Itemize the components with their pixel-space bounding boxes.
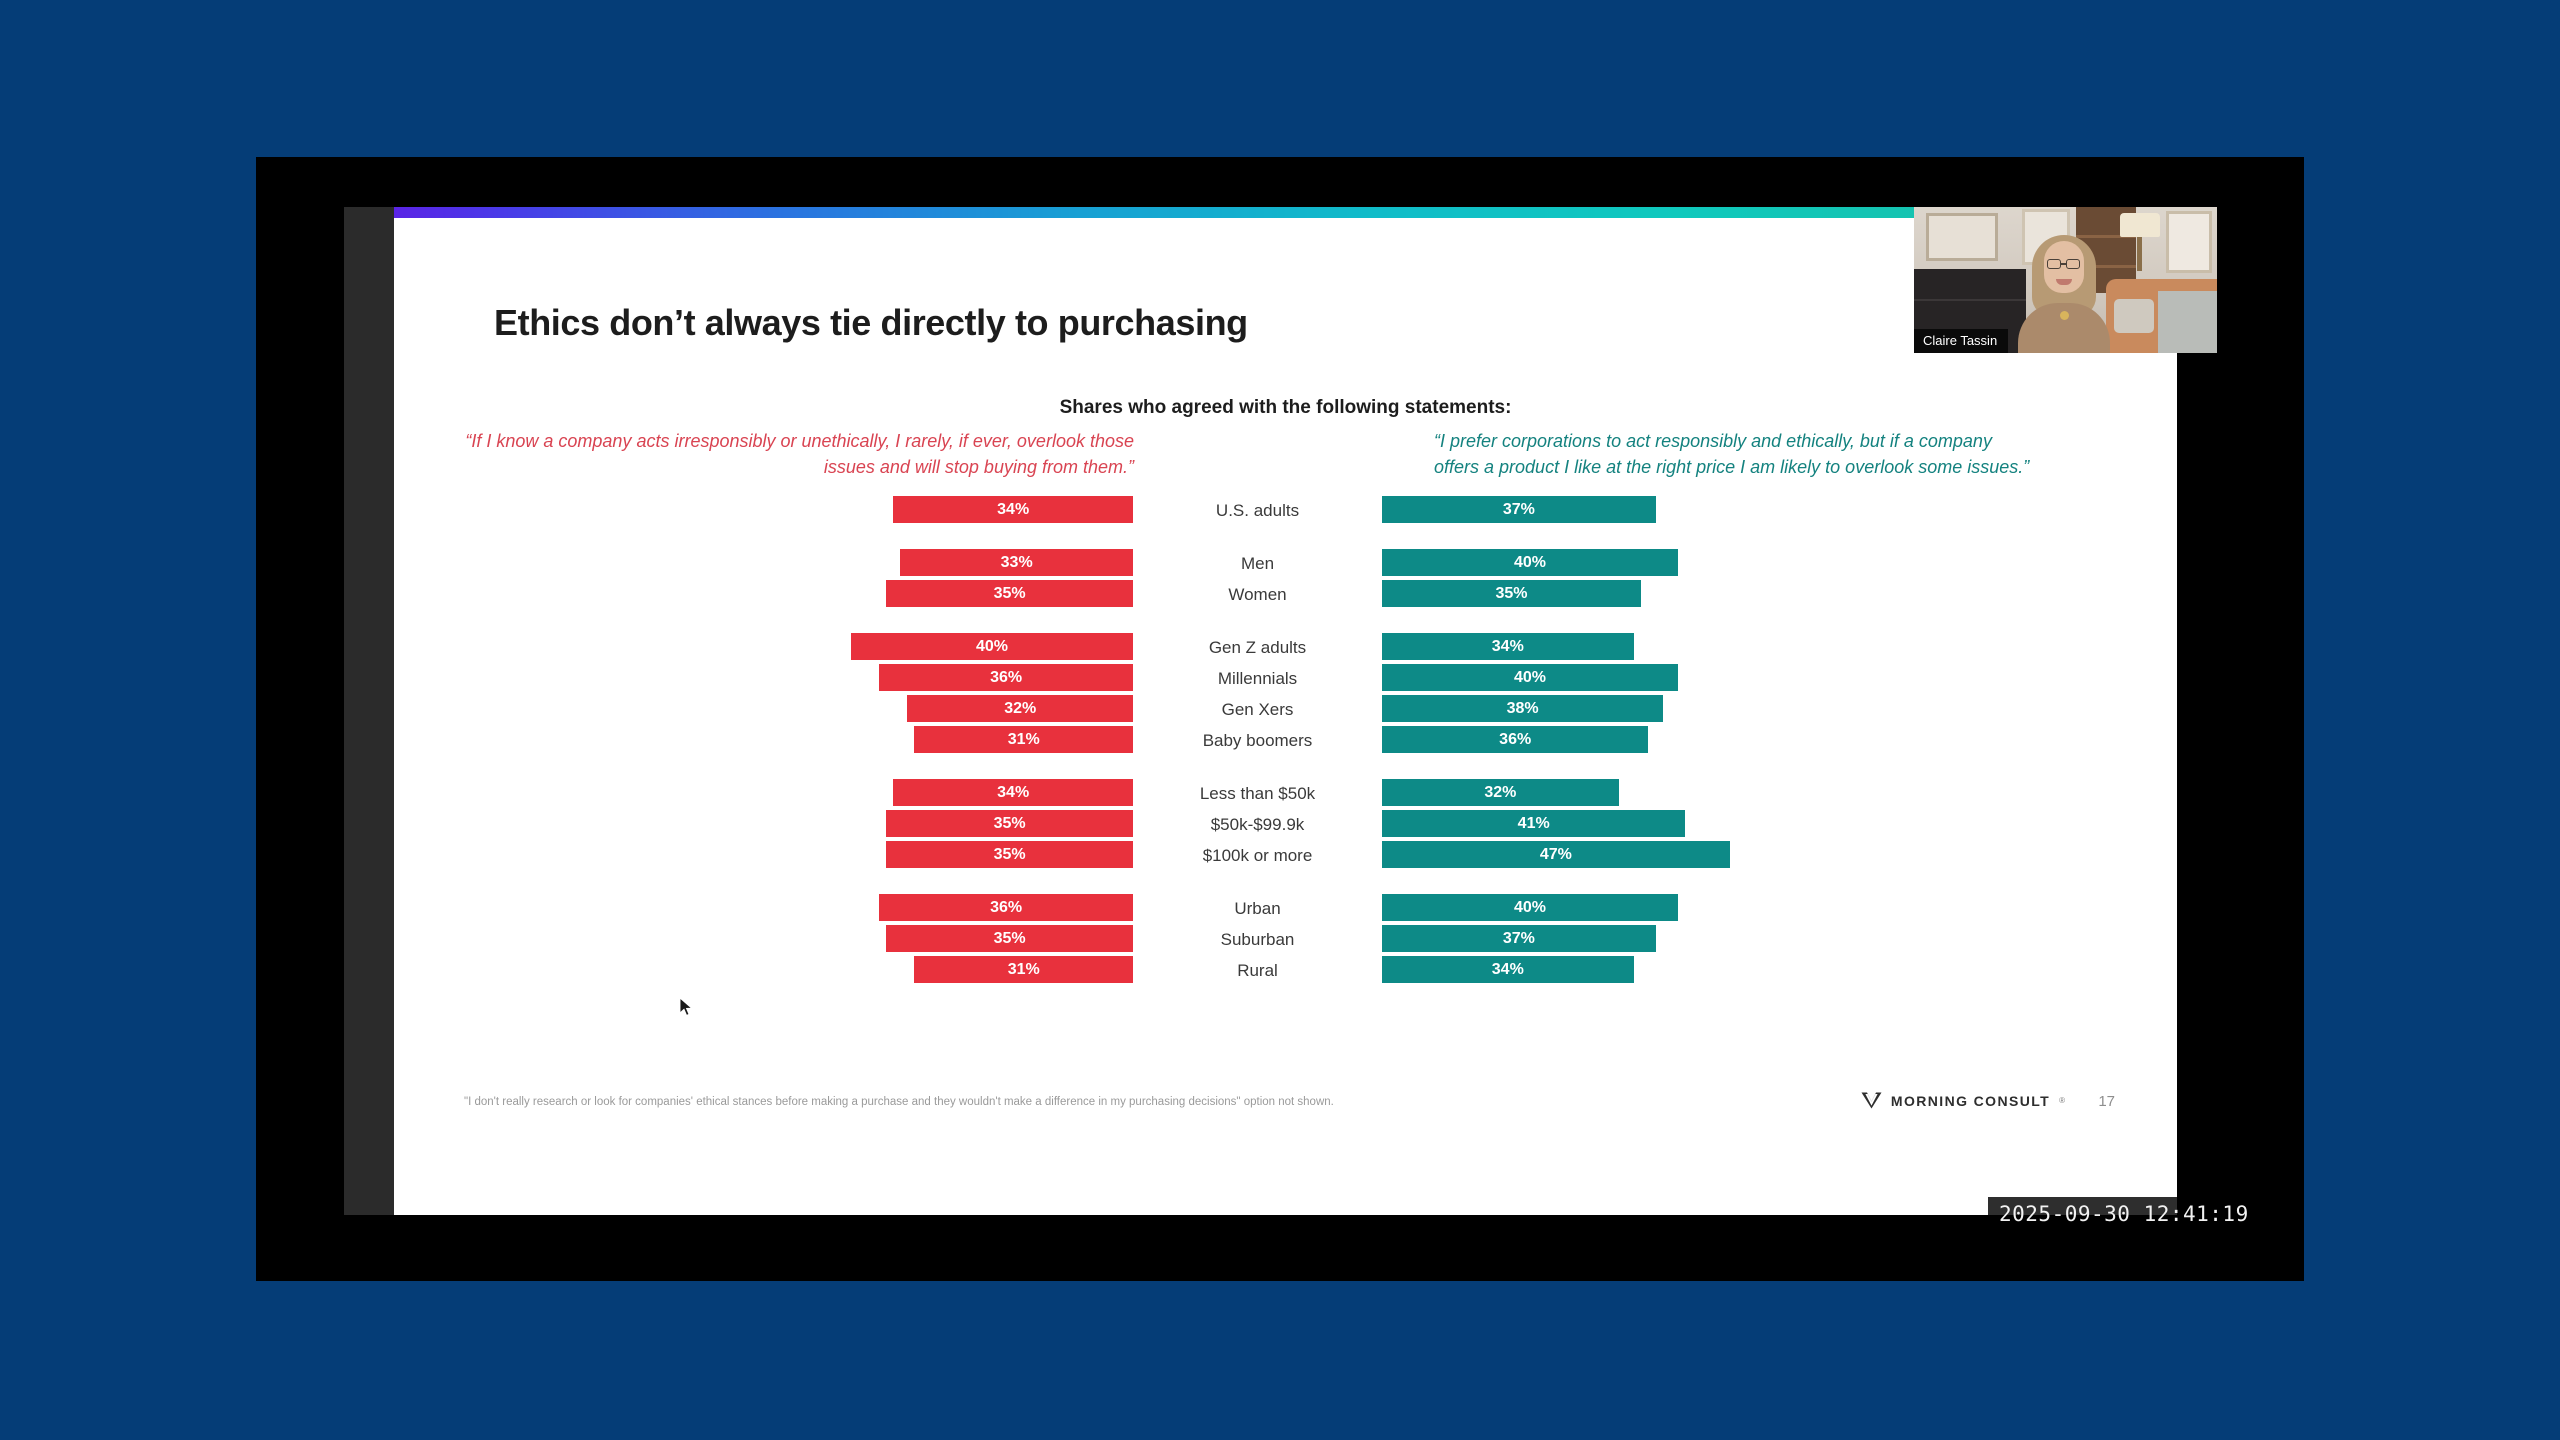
category-label: Less than $50k xyxy=(1200,784,1315,804)
webcam-participant-name: Claire Tassin xyxy=(1914,329,2008,353)
category-label: Baby boomers xyxy=(1203,731,1313,751)
chart-row-left-cell: 32% xyxy=(394,694,1133,725)
chart-row-left-cell: 35% xyxy=(394,579,1133,610)
bar-right: 37% xyxy=(1382,496,1656,523)
bar-left: 31% xyxy=(914,726,1133,753)
chart-row-category-cell: Gen Xers xyxy=(1133,694,1382,725)
category-label: Millennials xyxy=(1218,669,1297,689)
bar-chart: 34%U.S. adults37%33%Men40%35%Women35%40%… xyxy=(394,495,2177,986)
chart-row-category-cell: Rural xyxy=(1133,955,1382,986)
bar-value-label: 32% xyxy=(1484,784,1516,802)
recording-timestamp: 2025-09-30 12:41:19 xyxy=(1988,1197,2260,1232)
bar-value-label: 37% xyxy=(1503,501,1535,519)
bar-left: 40% xyxy=(851,633,1133,660)
bar-left: 35% xyxy=(886,580,1133,607)
chart-row: 32%Gen Xers38% xyxy=(394,694,2177,725)
bar-value-label: 40% xyxy=(976,638,1008,656)
bar-value-label: 37% xyxy=(1503,930,1535,948)
chart-row-left-cell: 36% xyxy=(394,893,1133,924)
category-label: $50k-$99.9k xyxy=(1211,815,1305,835)
category-label: Suburban xyxy=(1221,930,1295,950)
bar-right: 47% xyxy=(1382,841,1730,868)
bar-value-label: 40% xyxy=(1514,669,1546,687)
chart-row-category-cell: Urban xyxy=(1133,893,1382,924)
category-label: Rural xyxy=(1237,961,1278,981)
chart-row: 35%$50k-$99.9k41% xyxy=(394,809,2177,840)
brand-logo: MORNING CONSULT ® xyxy=(1861,1092,2065,1109)
chart-row-category-cell: $100k or more xyxy=(1133,840,1382,871)
bar-value-label: 41% xyxy=(1518,815,1550,833)
bar-value-label: 40% xyxy=(1514,899,1546,917)
chart-row-left-cell: 33% xyxy=(394,548,1133,579)
category-label: Gen Xers xyxy=(1222,700,1294,720)
bar-right: 34% xyxy=(1382,633,1634,660)
chart-row-right-cell: 41% xyxy=(1382,809,2177,840)
chart-row-category-cell: Less than $50k xyxy=(1133,778,1382,809)
slide-page-number: 17 xyxy=(2098,1093,2115,1110)
bar-value-label: 36% xyxy=(990,899,1022,917)
chart-row-right-cell: 40% xyxy=(1382,893,2177,924)
chart-row-category-cell: Baby boomers xyxy=(1133,725,1382,756)
bar-value-label: 36% xyxy=(1499,731,1531,749)
bar-left: 36% xyxy=(879,664,1133,691)
category-label: $100k or more xyxy=(1203,846,1313,866)
chart-row: 33%Men40% xyxy=(394,548,2177,579)
chart-row-right-cell: 36% xyxy=(1382,725,2177,756)
bar-right: 41% xyxy=(1382,810,1685,837)
chart-row-category-cell: Millennials xyxy=(1133,663,1382,694)
chart-subtitle: Shares who agreed with the following sta… xyxy=(394,397,2177,419)
bar-value-label: 47% xyxy=(1540,846,1572,864)
bar-value-label: 36% xyxy=(990,669,1022,687)
chart-row-left-cell: 34% xyxy=(394,495,1133,526)
chart-row: 34%Less than $50k32% xyxy=(394,778,2177,809)
chart-row: 35%Suburban37% xyxy=(394,924,2177,955)
category-label: Men xyxy=(1241,554,1274,574)
chart-row-right-cell: 47% xyxy=(1382,840,2177,871)
chart-row-left-cell: 31% xyxy=(394,955,1133,986)
bar-value-label: 35% xyxy=(994,585,1026,603)
chart-row-category-cell: Women xyxy=(1133,579,1382,610)
bar-right: 40% xyxy=(1382,549,1678,576)
chart-row-left-cell: 40% xyxy=(394,632,1133,663)
chart-row-left-cell: 35% xyxy=(394,924,1133,955)
bar-left: 35% xyxy=(886,925,1133,952)
bar-left: 34% xyxy=(893,496,1133,523)
chart-row-category-cell: U.S. adults xyxy=(1133,495,1382,526)
brand-trademark: ® xyxy=(2059,1096,2065,1105)
bar-left: 35% xyxy=(886,841,1133,868)
chart-row-left-cell: 36% xyxy=(394,663,1133,694)
page-title: Ethics don’t always tie directly to purc… xyxy=(494,302,1248,344)
chart-row-category-cell: Gen Z adults xyxy=(1133,632,1382,663)
bar-value-label: 34% xyxy=(997,501,1029,519)
mouse-cursor xyxy=(679,997,693,1017)
chart-row: 35%$100k or more47% xyxy=(394,840,2177,871)
chart-row-left-cell: 34% xyxy=(394,778,1133,809)
chart-footnote: "I don't really research or look for com… xyxy=(464,1095,1764,1110)
chart-row-category-cell: $50k-$99.9k xyxy=(1133,809,1382,840)
bar-right: 38% xyxy=(1382,695,1663,722)
chart-row: 35%Women35% xyxy=(394,579,2177,610)
chart-row-right-cell: 40% xyxy=(1382,548,2177,579)
bar-left: 31% xyxy=(914,956,1133,983)
bar-value-label: 31% xyxy=(1008,731,1040,749)
desktop-background: Ethics don’t always tie directly to purc… xyxy=(0,0,2560,1440)
category-label: U.S. adults xyxy=(1216,501,1299,521)
bar-value-label: 33% xyxy=(1001,554,1033,572)
webcam-thumbnail[interactable]: Claire Tassin xyxy=(1914,207,2217,353)
chart-row: 31%Rural34% xyxy=(394,955,2177,986)
chart-row: 36%Urban40% xyxy=(394,893,2177,924)
bar-right: 36% xyxy=(1382,726,1648,753)
bar-value-label: 34% xyxy=(1492,638,1524,656)
bar-value-label: 38% xyxy=(1507,700,1539,718)
category-label: Women xyxy=(1228,585,1286,605)
bar-value-label: 35% xyxy=(1495,585,1527,603)
bar-right: 40% xyxy=(1382,894,1678,921)
chart-row-right-cell: 38% xyxy=(1382,694,2177,725)
bar-right: 34% xyxy=(1382,956,1634,983)
bar-value-label: 40% xyxy=(1514,554,1546,572)
slide-accent-gradient-bar xyxy=(394,207,2177,218)
bar-right: 32% xyxy=(1382,779,1619,806)
chart-row-right-cell: 34% xyxy=(1382,632,2177,663)
category-label: Urban xyxy=(1234,899,1280,919)
bar-left: 34% xyxy=(893,779,1133,806)
presentation-slide: Ethics don’t always tie directly to purc… xyxy=(394,207,2177,1215)
chart-row-left-cell: 35% xyxy=(394,809,1133,840)
chart-row-category-cell: Suburban xyxy=(1133,924,1382,955)
chart-row: 40%Gen Z adults34% xyxy=(394,632,2177,663)
chart-row-left-cell: 35% xyxy=(394,840,1133,871)
statement-left-red: “If I know a company acts irresponsibly … xyxy=(449,429,1134,480)
bar-left: 35% xyxy=(886,810,1133,837)
chart-row-right-cell: 37% xyxy=(1382,495,2177,526)
chart-row-category-cell: Men xyxy=(1133,548,1382,579)
bar-value-label: 31% xyxy=(1008,961,1040,979)
chart-row: 31%Baby boomers36% xyxy=(394,725,2177,756)
bar-right: 40% xyxy=(1382,664,1678,691)
slide-left-rail xyxy=(344,207,394,1215)
statement-right-teal: “I prefer corporations to act responsibl… xyxy=(1434,429,2034,480)
bar-value-label: 35% xyxy=(994,930,1026,948)
chart-row-right-cell: 35% xyxy=(1382,579,2177,610)
bar-value-label: 34% xyxy=(997,784,1029,802)
bar-right: 37% xyxy=(1382,925,1656,952)
category-label: Gen Z adults xyxy=(1209,638,1306,658)
chart-row-right-cell: 34% xyxy=(1382,955,2177,986)
bar-value-label: 32% xyxy=(1004,700,1036,718)
chart-row: 34%U.S. adults37% xyxy=(394,495,2177,526)
chart-row-right-cell: 32% xyxy=(1382,778,2177,809)
bar-value-label: 34% xyxy=(1492,961,1524,979)
bar-left: 36% xyxy=(879,894,1133,921)
morning-consult-chevron-icon xyxy=(1861,1092,1882,1109)
chart-row-left-cell: 31% xyxy=(394,725,1133,756)
bar-right: 35% xyxy=(1382,580,1641,607)
chart-row-right-cell: 40% xyxy=(1382,663,2177,694)
chart-row: 36%Millennials40% xyxy=(394,663,2177,694)
bar-left: 33% xyxy=(900,549,1133,576)
chart-row-right-cell: 37% xyxy=(1382,924,2177,955)
bar-value-label: 35% xyxy=(994,815,1026,833)
bar-left: 32% xyxy=(907,695,1133,722)
bar-value-label: 35% xyxy=(994,846,1026,864)
brand-name-text: MORNING CONSULT xyxy=(1891,1093,2050,1109)
